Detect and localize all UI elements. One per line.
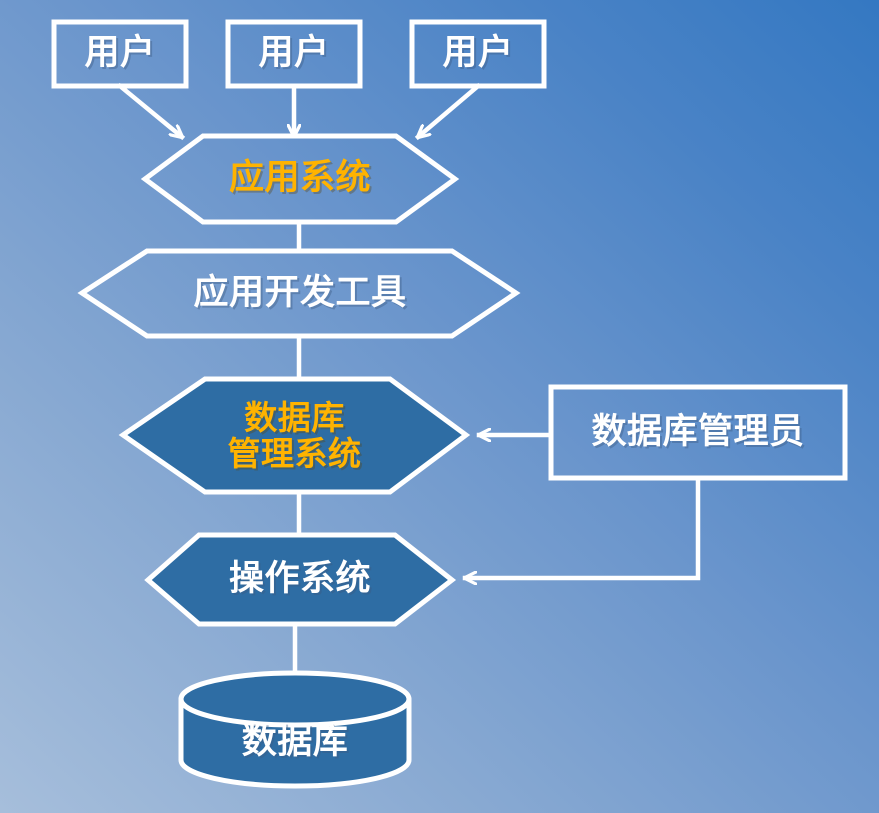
node-user3-shape[interactable]	[412, 22, 544, 86]
node-dev-tools-shape[interactable]	[82, 251, 516, 336]
diagram-canvas: 用户 用户 用户 应用系统 应用开发工具 数据库 管理系统 操作系统 数据库 数…	[0, 0, 879, 813]
edge-dba-to-os	[465, 478, 698, 578]
node-database-shape[interactable]	[181, 673, 409, 786]
edge-user3-to-app	[418, 86, 478, 137]
node-user1-shape[interactable]	[54, 22, 186, 86]
diagram-shapes-layer	[0, 0, 879, 813]
node-dbms-shape[interactable]	[123, 379, 466, 492]
node-user2-shape[interactable]	[228, 22, 360, 86]
node-dba-shape[interactable]	[551, 387, 845, 478]
node-os-shape[interactable]	[148, 535, 452, 624]
node-app-system-shape[interactable]	[145, 136, 455, 222]
edge-user1-to-app	[120, 86, 182, 137]
